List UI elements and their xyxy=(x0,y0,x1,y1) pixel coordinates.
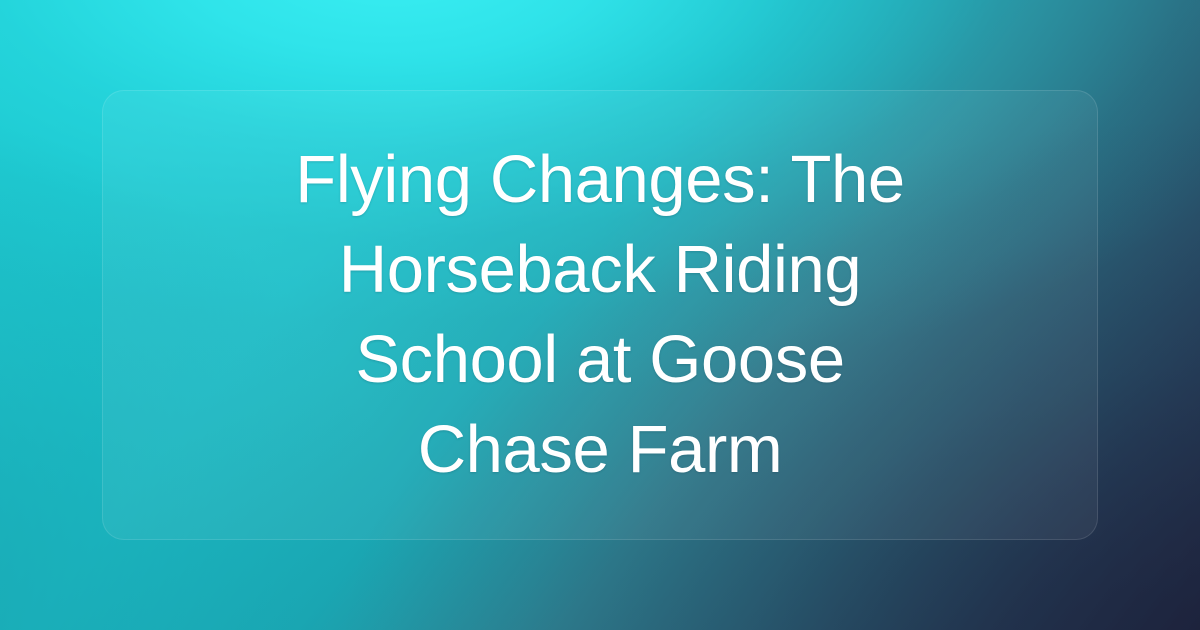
title-panel-content: Flying Changes: The Horseback Riding Sch… xyxy=(103,135,1097,495)
page-title: Flying Changes: The Horseback Riding Sch… xyxy=(137,135,1063,495)
og-image-card: Flying Changes: The Horseback Riding Sch… xyxy=(0,0,1200,630)
title-panel: Flying Changes: The Horseback Riding Sch… xyxy=(102,90,1098,540)
